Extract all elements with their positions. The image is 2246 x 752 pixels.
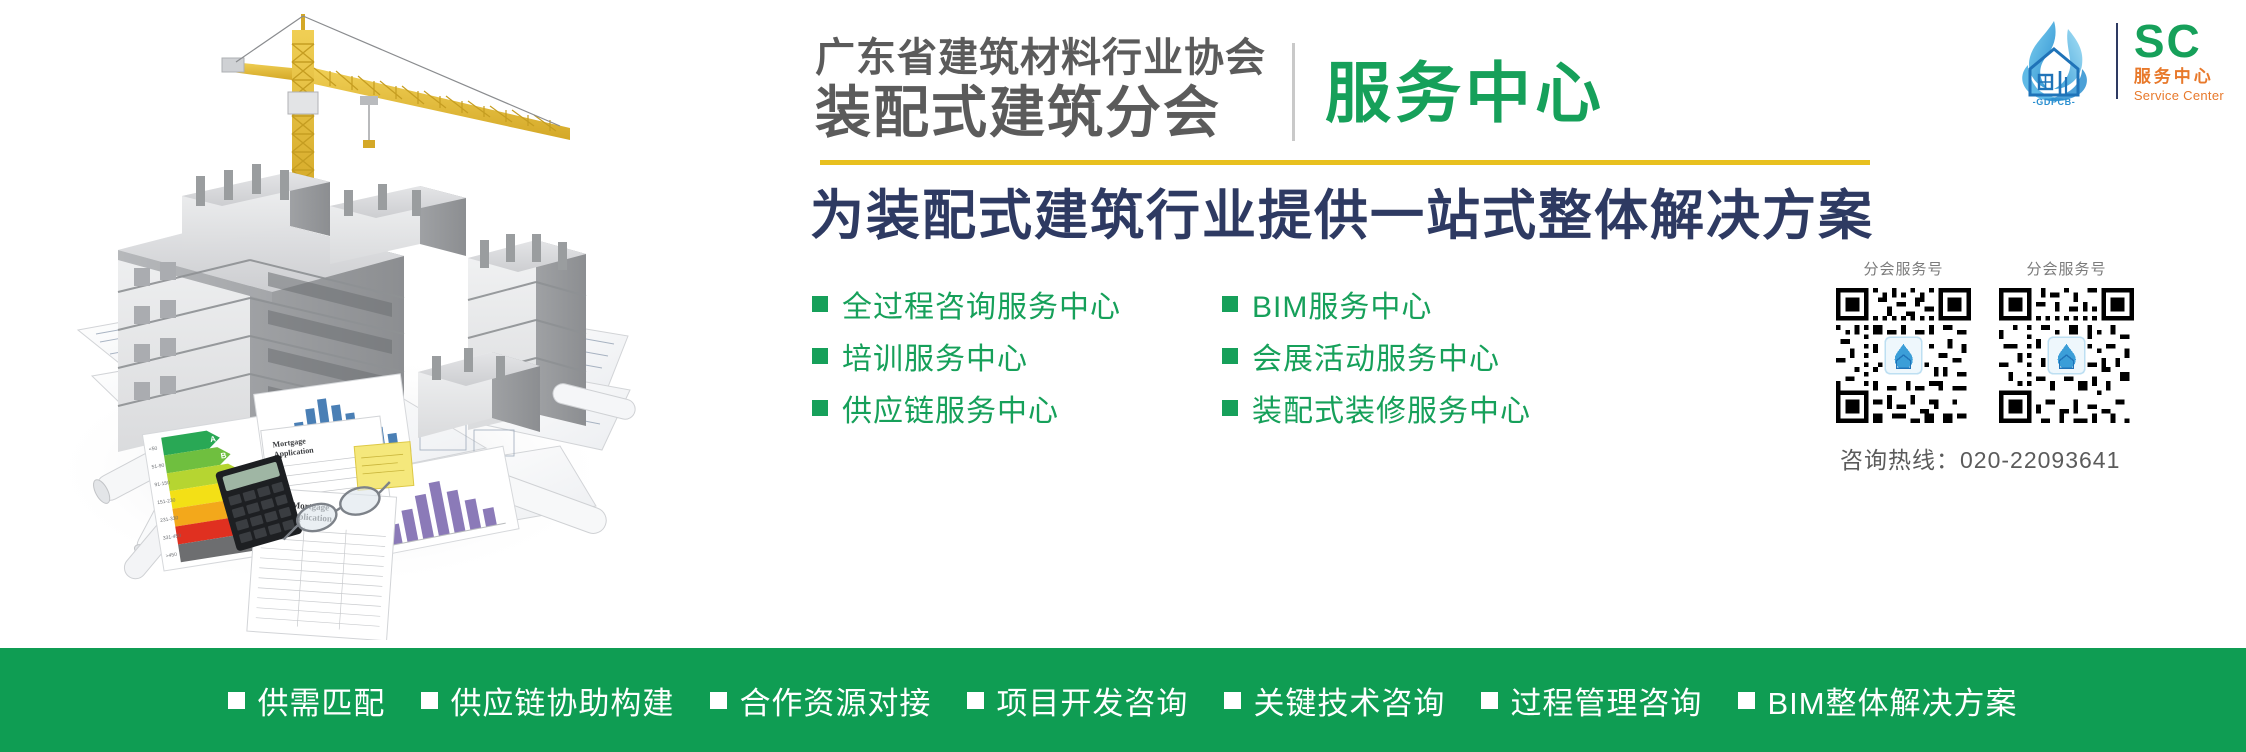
tower-crane-icon (222, 14, 570, 200)
footer-item-label: 合作资源对接 (739, 678, 931, 723)
association-name-block: 广东省建筑材料行业协会 装配式建筑分会 (815, 35, 1292, 145)
qr-code-icon[interactable] (1999, 288, 2134, 423)
square-bullet-icon (710, 692, 727, 709)
square-bullet-icon (1222, 348, 1238, 364)
qr-cell-1[interactable]: 分会服务号 (1836, 258, 1971, 423)
square-bullet-icon (812, 348, 828, 364)
footer-item-label: BIM整体解决方案 (1767, 678, 2017, 723)
service-item-zhuangxiu[interactable]: 装配式装修服务中心 (1222, 386, 1632, 430)
service-item-label: 全过程咨询服务中心 (842, 282, 1121, 326)
banner-content: 广东省建筑材料行业协会 装配式建筑分会 服务中心 为装配式建筑行业提供一站式整体… (690, 0, 2246, 640)
footer-item-gongyinglian[interactable]: 供应链协助构建 (421, 678, 674, 723)
service-item-label: 装配式装修服务中心 (1252, 386, 1531, 430)
service-item-peixun[interactable]: 培训服务中心 (812, 334, 1222, 378)
square-bullet-icon (812, 296, 828, 312)
logo-chinese-subtitle: 服务中心 (2134, 66, 2214, 87)
footer-item-bim-solution[interactable]: BIM整体解决方案 (1738, 678, 2017, 723)
service-item-gongyinglian[interactable]: 供应链服务中心 (812, 386, 1222, 430)
square-bullet-icon (228, 692, 245, 709)
sticky-note-icon (354, 442, 414, 491)
square-bullet-icon (1224, 692, 1241, 709)
service-item-label: 供应链服务中心 (842, 386, 1059, 430)
footer-item-xiangmukaifa[interactable]: 项目开发咨询 (967, 678, 1188, 723)
yellow-divider-rule (820, 160, 1870, 165)
footer-item-guochengguanli[interactable]: 过程管理咨询 (1481, 678, 1702, 723)
title-row: 广东省建筑材料行业协会 装配式建筑分会 服务中心 (815, 35, 1605, 145)
footer-item-gongxupeipei[interactable]: 供需匹配 (228, 678, 385, 723)
footer-item-label: 供需匹配 (257, 678, 385, 723)
footer-item-label: 关键技术咨询 (1253, 678, 1445, 723)
service-item-label: 培训服务中心 (842, 334, 1028, 378)
footer-item-guanjianjishu[interactable]: 关键技术咨询 (1224, 678, 1445, 723)
qr-caption: 分会服务号 (1836, 258, 1971, 279)
logo-text-block: SC 服务中心 Service Center (2134, 19, 2224, 104)
footer-item-label: 项目开发咨询 (996, 678, 1188, 723)
square-bullet-icon (967, 692, 984, 709)
construction-illustration: AB CD EF G <5051-90 91-150151-230 231-33… (0, 0, 660, 640)
svg-text:-GDPCB-: -GDPCB- (2032, 97, 2075, 107)
footer-item-label: 过程管理咨询 (1510, 678, 1702, 723)
association-branch-line2: 装配式建筑分会 (815, 82, 1221, 145)
logo-sc-wordmark: SC (2134, 19, 2202, 63)
square-bullet-icon (1222, 400, 1238, 416)
service-center-heading: 服务中心 (1295, 60, 1605, 126)
service-item-label: BIM服务中心 (1252, 282, 1432, 326)
gdpcb-house-flame-icon: -GDPCB- (2008, 15, 2100, 107)
qr-caption: 分会服务号 (1999, 258, 2134, 279)
association-name-line1: 广东省建筑材料行业协会 (815, 35, 1266, 82)
hotline-text: 咨询热线：020-22093641 (1836, 441, 2226, 475)
square-bullet-icon (812, 400, 828, 416)
footer-item-label: 供应链协助构建 (450, 678, 674, 723)
logo-english-subtitle: Service Center (2134, 88, 2224, 104)
footer-item-hezuoziyuan[interactable]: 合作资源对接 (710, 678, 931, 723)
qr-contact-block: 分会服务号 (1836, 258, 2226, 475)
footer-capability-bar: 供需匹配 供应链协助构建 合作资源对接 项目开发咨询 关键技术咨询 过程管理咨询… (0, 648, 2246, 752)
square-bullet-icon (421, 692, 438, 709)
construction-scene-graphic: AB CD EF G <5051-90 91-150151-230 231-33… (0, 0, 660, 640)
square-bullet-icon (1738, 692, 1755, 709)
qr-row: 分会服务号 (1836, 258, 2226, 423)
service-center-list: 全过程咨询服务中心 BIM服务中心 培训服务中心 会展活动服务中心 供应链服务中… (812, 278, 1812, 434)
service-item-huizhan[interactable]: 会展活动服务中心 (1222, 334, 1632, 378)
qr-cell-2[interactable]: 分会服务号 (1999, 258, 2134, 423)
square-bullet-icon (1481, 692, 1498, 709)
service-item-label: 会展活动服务中心 (1252, 334, 1500, 378)
page-tagline: 为装配式建筑行业提供一站式整体解决方案 (810, 184, 1874, 249)
qr-code-icon[interactable] (1836, 288, 1971, 423)
service-item-bim[interactable]: BIM服务中心 (1222, 282, 1632, 326)
service-center-banner: AB CD EF G <5051-90 91-150151-230 231-33… (0, 0, 2246, 752)
service-item-quanguocheng[interactable]: 全过程咨询服务中心 (812, 282, 1222, 326)
square-bullet-icon (1222, 296, 1238, 312)
logo-separator (2116, 23, 2118, 99)
logo-lockup[interactable]: -GDPCB- SC 服务中心 Service Center (2008, 14, 2224, 108)
